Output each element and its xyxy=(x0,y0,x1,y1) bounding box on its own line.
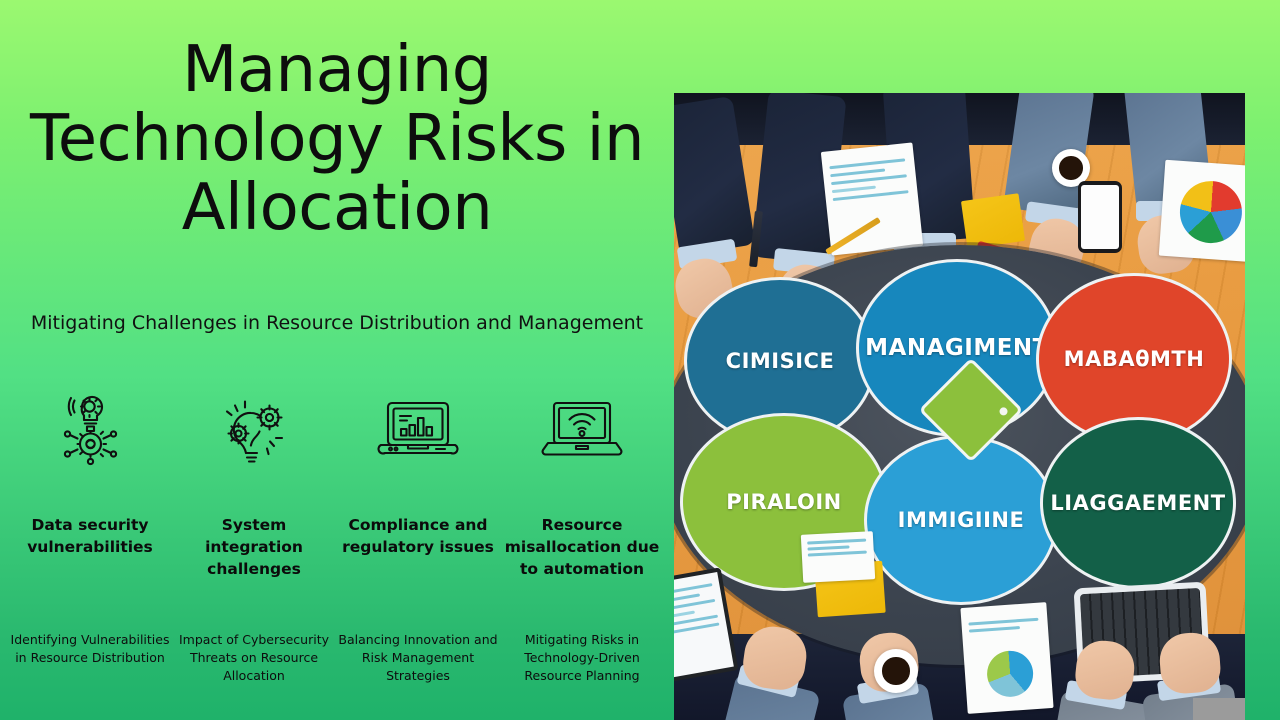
feature-card-caption: Impact of Cybersecurity Threats on Resou… xyxy=(174,631,334,685)
chart-document xyxy=(960,602,1053,714)
hand xyxy=(1158,631,1222,695)
feature-card-grid: Data security vulnerabilities Identifyin… xyxy=(8,388,664,472)
feature-card-caption: Identifying Vulnerabilities in Resource … xyxy=(10,631,170,667)
feature-card-heading: System integration challenges xyxy=(176,514,332,580)
feature-card-caption: Mitigating Risks in Technology-Driven Re… xyxy=(502,631,662,685)
feature-card-heading: Compliance and regulatory issues xyxy=(340,514,496,558)
coffee-cup xyxy=(874,649,918,693)
feature-card: System integration challenges Impact of … xyxy=(172,388,336,472)
feature-card-heading: Resource misallocation due to automation xyxy=(504,514,660,580)
image-edge-artifact xyxy=(1193,698,1245,720)
meeting-photo: CIMISICE MANAGIMENT MABAθMTH PIRALOIN IM… xyxy=(674,93,1245,720)
document-sheet xyxy=(821,142,923,255)
laptop-wifi-icon xyxy=(500,388,664,472)
smartphone xyxy=(1078,181,1122,253)
laptop-bar-chart-icon xyxy=(336,388,500,472)
venn-bubble: IMMIGIINE xyxy=(864,435,1058,605)
feature-card: Compliance and regulatory issues Balanci… xyxy=(336,388,500,472)
document-sheet xyxy=(801,531,875,583)
slide-subtitle: Mitigating Challenges in Resource Distri… xyxy=(14,312,660,334)
right-background-strip xyxy=(1245,0,1280,720)
feature-card-caption: Balancing Innovation and Risk Management… xyxy=(338,631,498,685)
lightbulb-gear-network-icon xyxy=(8,388,172,472)
feature-card: Resource misallocation due to automation… xyxy=(500,388,664,472)
slide-left-content: Managing Technology Risks in Allocation … xyxy=(0,0,672,720)
lightbulb-gears-icon xyxy=(172,388,336,472)
venn-bubble: LIAGGAEMENT xyxy=(1040,417,1236,589)
yellow-note xyxy=(961,193,1025,249)
feature-card-heading: Data security vulnerabilities xyxy=(12,514,168,558)
page-title: Managing Technology Risks in Allocation xyxy=(14,36,660,243)
feature-card: Data security vulnerabilities Identifyin… xyxy=(8,388,172,472)
